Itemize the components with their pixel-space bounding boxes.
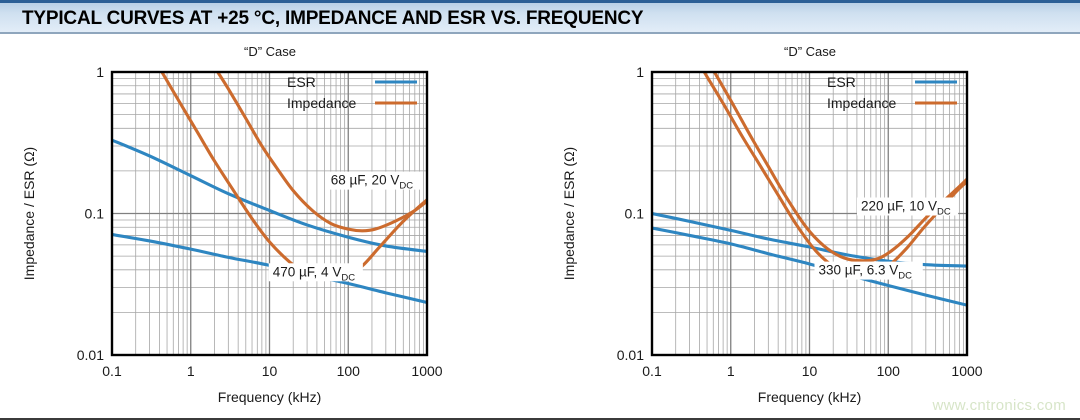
y-tick-label: 0.01 <box>617 347 644 363</box>
x-tick-label: 100 <box>337 363 361 379</box>
chart-panel-left: “D” Case 0.111010010000.010.11Frequency … <box>0 36 540 418</box>
y-tick-label: 0.1 <box>625 206 645 222</box>
x-tick-label: 0.1 <box>642 363 662 379</box>
x-tick-label: 1 <box>187 363 195 379</box>
site-watermark: www.cntronics.com <box>933 397 1066 414</box>
chart-legend: ESRImpedance <box>827 74 957 111</box>
chart-annotation: 470 µF, 4 VDC <box>269 263 363 283</box>
chart-plot-right: 0.111010010000.010.11Frequency (kHz)Impe… <box>540 36 1080 418</box>
x-axis-title: Frequency (kHz) <box>218 389 321 405</box>
chart-annotation: 330 µF, 6.3 VDC <box>814 262 922 282</box>
y-tick-label: 1 <box>96 64 104 80</box>
x-tick-label: 1000 <box>951 363 982 379</box>
x-tick-label: 0.1 <box>102 363 122 379</box>
header-band: TYPICAL CURVES AT +25 °C, IMPEDANCE AND … <box>0 0 1080 34</box>
x-tick-label: 10 <box>802 363 818 379</box>
legend-label: Impedance <box>287 95 356 111</box>
chart-annotation: 68 µF, 20 VDC <box>327 172 421 192</box>
y-axis-title: Impedance / ESR (Ω) <box>561 147 577 280</box>
page-title: TYPICAL CURVES AT +25 °C, IMPEDANCE AND … <box>22 8 643 30</box>
y-tick-label: 0.1 <box>85 206 105 222</box>
chart-plot-left: 0.111010010000.010.11Frequency (kHz)Impe… <box>0 36 540 418</box>
chart-panel-right: “D” Case 0.111010010000.010.11Frequency … <box>540 36 1080 418</box>
x-axis-title: Frequency (kHz) <box>758 389 861 405</box>
y-tick-label: 0.01 <box>77 347 104 363</box>
y-axis-title: Impedance / ESR (Ω) <box>21 147 37 280</box>
chart-legend: ESRImpedance <box>287 74 417 111</box>
figure-page: TYPICAL CURVES AT +25 °C, IMPEDANCE AND … <box>0 0 1080 420</box>
y-tick-label: 1 <box>636 64 644 80</box>
legend-label: ESR <box>827 74 856 90</box>
legend-label: ESR <box>287 74 316 90</box>
x-tick-label: 100 <box>877 363 901 379</box>
x-tick-label: 10 <box>262 363 278 379</box>
chart-annotation: 220 µF, 10 VDC <box>857 198 958 218</box>
legend-label: Impedance <box>827 95 896 111</box>
x-tick-label: 1 <box>727 363 735 379</box>
x-tick-label: 1000 <box>411 363 442 379</box>
